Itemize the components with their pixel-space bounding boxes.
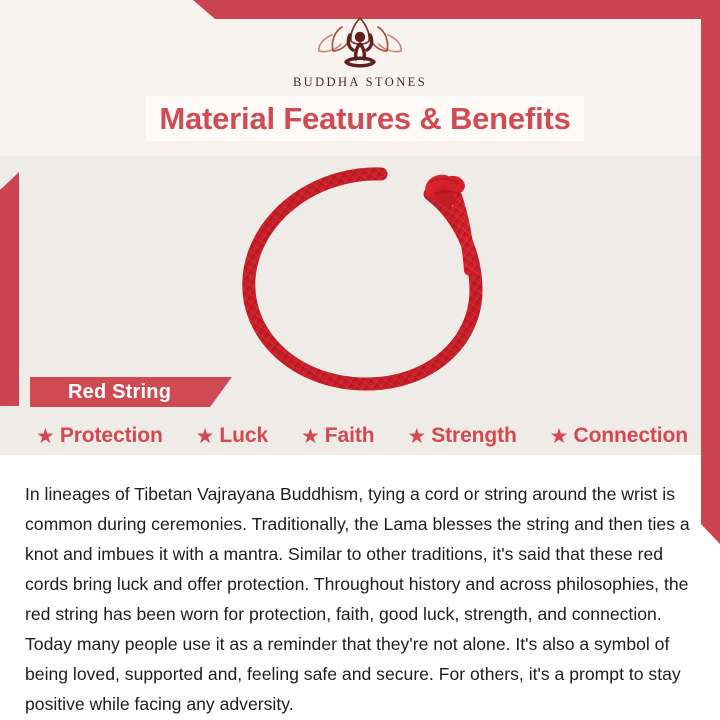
title-band: Material Features & Benefits — [146, 96, 584, 141]
section-ribbon: Red String — [30, 377, 232, 407]
decorative-bar-right — [701, 19, 720, 544]
benefit-item-faith: ★ Faith — [301, 424, 375, 448]
benefit-label: Strength — [431, 424, 517, 448]
star-icon: ★ — [550, 426, 569, 447]
star-icon: ★ — [36, 426, 55, 447]
benefit-item-luck: ★ Luck — [196, 424, 268, 448]
brand-logo: BUDDHA STONES — [0, 14, 720, 90]
star-icon: ★ — [196, 426, 215, 447]
star-icon: ★ — [407, 426, 426, 447]
lotus-meditation-icon — [312, 14, 408, 72]
benefits-list: ★ Protection ★ Luck ★ Faith ★ Strength ★… — [36, 420, 688, 452]
benefit-item-connection: ★ Connection — [550, 424, 688, 448]
benefit-label: Connection — [574, 424, 689, 448]
benefit-label: Luck — [219, 424, 268, 448]
page-title: Material Features & Benefits — [159, 101, 570, 137]
star-icon: ★ — [301, 426, 320, 447]
brand-wordmark: BUDDHA STONES — [0, 75, 720, 90]
red-string-bracelet-illustration — [218, 150, 514, 400]
benefit-label: Protection — [60, 424, 163, 448]
description-paragraph: In lineages of Tibetan Vajrayana Buddhis… — [25, 479, 693, 719]
decorative-bar-left — [0, 172, 19, 406]
product-image — [218, 150, 514, 400]
benefit-item-protection: ★ Protection — [36, 424, 163, 448]
infographic-page: BUDDHA STONES Material Features & Benefi… — [0, 0, 720, 720]
benefit-label: Faith — [325, 424, 375, 448]
benefit-item-strength: ★ Strength — [407, 424, 516, 448]
section-ribbon-label: Red String — [68, 381, 171, 404]
